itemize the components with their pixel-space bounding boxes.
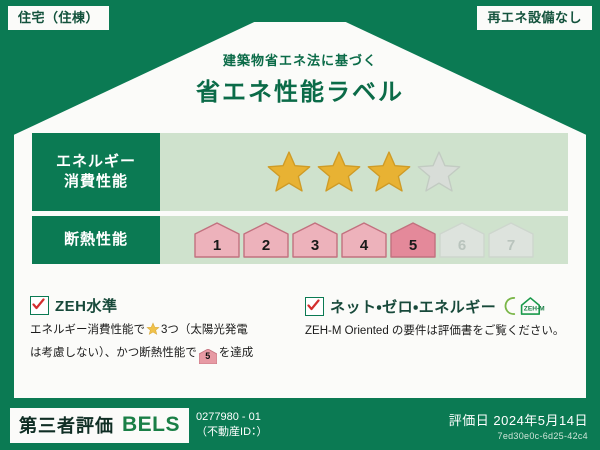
title-main: 省エネ性能ラベル xyxy=(0,72,600,107)
title-subtitle: 建築物省エネ法に基づく xyxy=(0,50,600,69)
footer-bar: 第三者評価 BELS 0277980 - 01 （不動産ID：） 評価日 202… xyxy=(0,400,600,450)
grade-badge: 2 xyxy=(243,222,289,258)
zeh-standard-panel: ZEH水準 エネルギー消費性能で3つ（太陽光発電は考慮しない）、かつ断熱性能で5… xyxy=(30,295,295,363)
grade-badge: 1 xyxy=(194,222,240,258)
info-panels: ZEH水準 エネルギー消費性能で3つ（太陽光発電は考慮しない）、かつ断熱性能で5… xyxy=(30,295,570,363)
grade-badge-value: 4 xyxy=(360,237,368,258)
building-type-badge: 住宅（住棟） xyxy=(8,6,109,30)
bels-jp-label: 第三者評価 xyxy=(19,412,114,438)
inline-grade-value: 5 xyxy=(199,349,217,364)
footer-right-block: 評価日 2024年5月14日 7ed30e0c-6d25-42c4 xyxy=(449,410,588,441)
check-icon xyxy=(305,297,324,316)
grade-badge-value: 3 xyxy=(311,237,319,258)
energy-label-line2: 消費性能 xyxy=(64,172,128,192)
energy-label-line1: エネルギー xyxy=(56,152,136,172)
zeh-standard-header: ZEH水準 xyxy=(30,295,295,316)
grade-badge: 5 xyxy=(390,222,436,258)
zeh-body-prefix: エネルギー消費性能で xyxy=(30,324,145,336)
renewable-energy-badge: 再エネ設備なし xyxy=(477,6,592,30)
grade-badge: 3 xyxy=(292,222,338,258)
grade-badge-value: 2 xyxy=(262,237,270,258)
svg-text:ZEH-M: ZEH-M xyxy=(524,305,545,312)
star-icon-inline xyxy=(146,327,160,339)
grade-badge: 7 xyxy=(488,222,534,258)
zeh-body-suffix: を達成 xyxy=(219,347,254,359)
document-hash: 7ed30e0c-6d25-42c4 xyxy=(449,431,588,441)
net-zero-energy-header: ネット・ゼロ・エネルギー ZEH-M xyxy=(305,295,570,317)
net-zero-energy-title: ネット・ゼロ・エネルギー xyxy=(330,296,496,317)
page-title: 建築物省エネ法に基づく 省エネ性能ラベル xyxy=(0,50,600,107)
bels-id-number: 0277980 - 01 xyxy=(196,411,261,423)
performance-rows: エネルギー 消費性能 断熱性能 1234567 xyxy=(32,133,568,269)
grade-badge-value: 6 xyxy=(458,237,466,258)
star-rating xyxy=(266,149,462,195)
zeh-standard-body: エネルギー消費性能で3つ（太陽光発電は考慮しない）、かつ断熱性能で5を達成 xyxy=(30,321,295,363)
property-id-label: （不動産ID：） xyxy=(196,425,268,440)
net-zero-energy-panel: ネット・ゼロ・エネルギー ZEH-M ZEH-M Oriented の要件は評価… xyxy=(305,295,570,363)
insulation-label-text: 断熱性能 xyxy=(64,230,128,250)
check-icon xyxy=(30,296,49,315)
zeh-m-logo-icon: ZEH-M xyxy=(504,295,548,317)
energy-consumption-row: エネルギー 消費性能 xyxy=(32,133,568,211)
house-badge-icon-inline: 5 xyxy=(199,349,217,363)
energy-performance-label: 住宅（住棟） 再エネ設備なし 建築物省エネ法に基づく 省エネ性能ラベル エネルギ… xyxy=(0,0,600,450)
net-zero-energy-body: ZEH-M Oriented の要件は評価書をご覧ください。 xyxy=(305,322,570,342)
star-icon xyxy=(416,149,462,195)
bels-en-label: BELS xyxy=(122,413,180,437)
zeh-standard-title: ZEH水準 xyxy=(55,295,118,316)
grade-badge-value: 5 xyxy=(409,237,417,258)
bels-id-block: 0277980 - 01 （不動産ID：） xyxy=(196,410,268,440)
evaluation-date: 評価日 2024年5月14日 xyxy=(449,410,588,429)
energy-consumption-label: エネルギー 消費性能 xyxy=(32,133,160,211)
insulation-performance-row: 断熱性能 1234567 xyxy=(32,216,568,264)
zeh-body-stars: 3つ（太陽光発電 xyxy=(161,324,248,336)
grade-badge: 4 xyxy=(341,222,387,258)
star-icon xyxy=(366,149,412,195)
grade-badge-list: 1234567 xyxy=(194,222,534,258)
bels-certification-box: 第三者評価 BELS xyxy=(10,408,189,443)
grade-badge: 6 xyxy=(439,222,485,258)
grade-badge-value: 1 xyxy=(213,237,221,258)
star-icon xyxy=(266,149,312,195)
insulation-performance-value: 1234567 xyxy=(160,216,568,264)
energy-consumption-value xyxy=(160,133,568,211)
zeh-body-middle: は考慮しない）、かつ断熱性能で xyxy=(30,347,197,359)
grade-badge-value: 7 xyxy=(507,237,515,258)
insulation-performance-label: 断熱性能 xyxy=(32,216,160,264)
star-icon xyxy=(316,149,362,195)
